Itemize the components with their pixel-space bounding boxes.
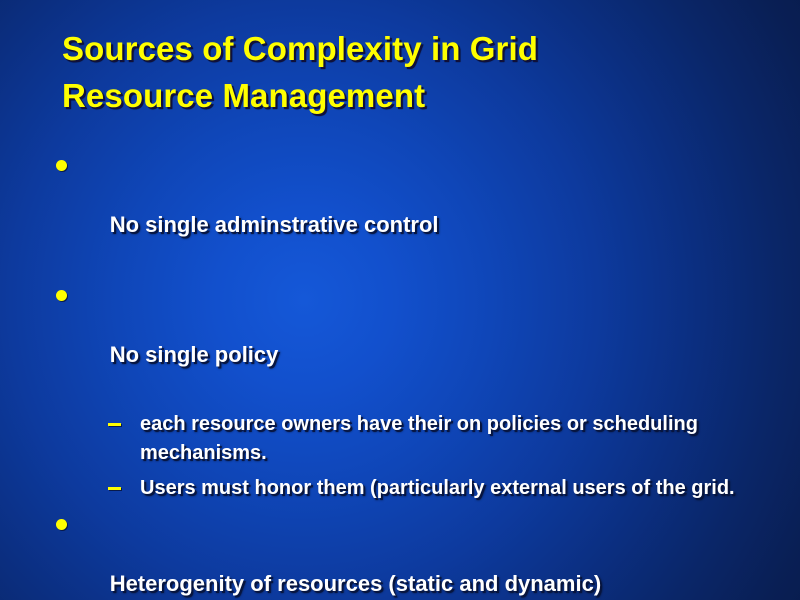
disc-bullet-icon [56,519,67,530]
slide-title: Sources of Complexity in Grid Resource M… [62,26,752,120]
sub-bullet-text: each resource owners have their on polic… [140,413,698,464]
sub-bullet-item: Users must honor them (particularly exte… [0,474,800,503]
slide-body: No single adminstrative control No singl… [0,150,800,600]
bullet-item: No single adminstrative control [0,150,800,270]
dash-bullet-icon [108,423,121,426]
disc-bullet-icon [56,160,67,171]
sub-bullet-item: each resource owners have their on polic… [0,410,800,468]
dash-bullet-icon [108,487,121,490]
bullet-item: No single policy [0,280,800,400]
bullet-text: No single policy [110,342,279,367]
disc-bullet-icon [56,290,67,301]
bullet-text: No single adminstrative control [110,212,439,237]
bullet-text: Heterogenity of resources (static and dy… [110,571,601,596]
bullet-item: Heterogenity of resources (static and dy… [0,509,800,600]
presentation-slide: Sources of Complexity in Grid Resource M… [0,0,800,600]
sub-bullet-text: Users must honor them (particularly exte… [140,477,735,499]
